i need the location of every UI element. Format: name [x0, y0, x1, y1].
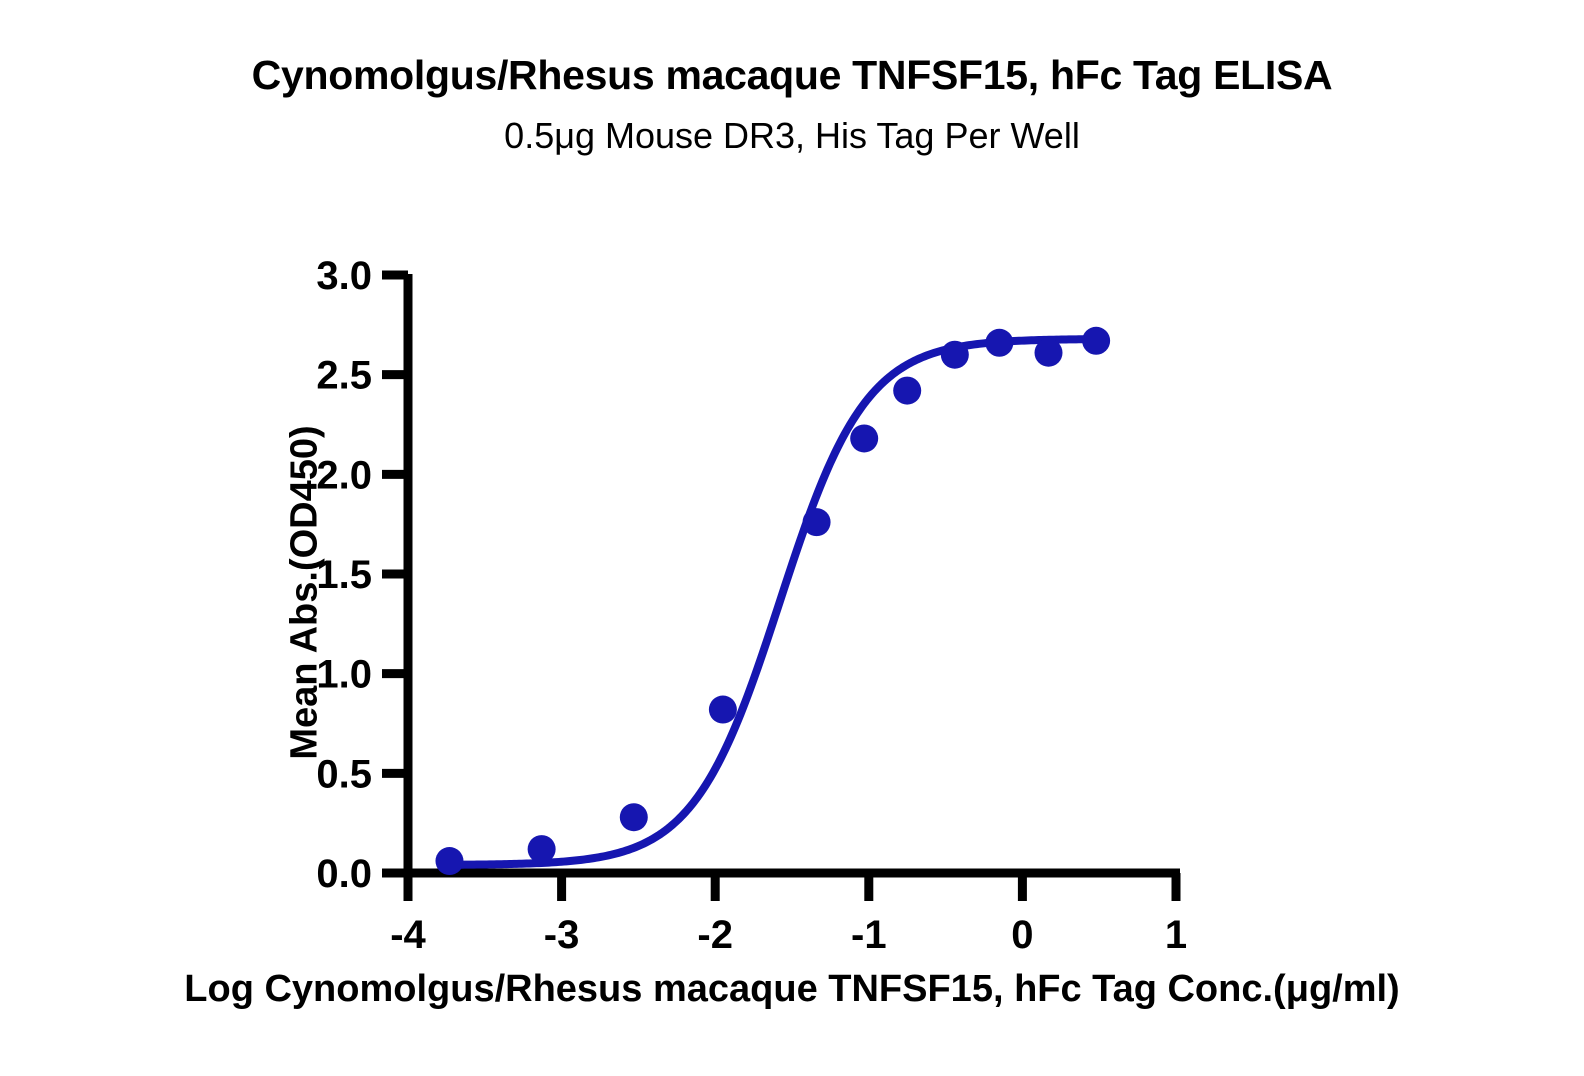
fit-curve [449, 339, 1096, 865]
data-point [528, 835, 556, 863]
y-tick-label-1.0: 1.0 [316, 653, 372, 697]
x-tick-label--1: -1 [851, 913, 887, 957]
x-tick-label--4: -4 [390, 913, 426, 957]
y-tick-label-0.0: 0.0 [316, 852, 372, 896]
data-point [985, 329, 1013, 357]
plot-area: 0.00.51.01.52.02.53.0 -4-3-2-101 [0, 0, 1584, 1076]
y-tick-label-3.0: 3.0 [316, 254, 372, 298]
x-tick-label--3: -3 [544, 913, 580, 957]
y-tick-label-2.5: 2.5 [316, 354, 372, 398]
x-tick-label-0: 0 [1011, 913, 1033, 957]
data-point [850, 424, 878, 452]
data-point [620, 803, 648, 831]
data-point [803, 508, 831, 536]
elisa-chart-figure: Cynomolgus/Rhesus macaque TNFSF15, hFc T… [0, 0, 1584, 1076]
data-point [893, 377, 921, 405]
y-tick-label-0.5: 0.5 [316, 752, 372, 796]
data-point [941, 341, 969, 369]
x-tick-label-1: 1 [1165, 913, 1187, 957]
y-tick-label-2.0: 2.0 [316, 453, 372, 497]
x-tick-label--2: -2 [697, 913, 733, 957]
data-point [709, 696, 737, 724]
y-tick-labels: 0.00.51.01.52.02.53.0 [316, 254, 372, 896]
x-tick-labels: -4-3-2-101 [390, 913, 1187, 957]
data-point [1035, 339, 1063, 367]
data-point-series [435, 327, 1110, 875]
y-tick-label-1.5: 1.5 [316, 553, 372, 597]
data-point [1082, 327, 1110, 355]
data-point [435, 847, 463, 875]
